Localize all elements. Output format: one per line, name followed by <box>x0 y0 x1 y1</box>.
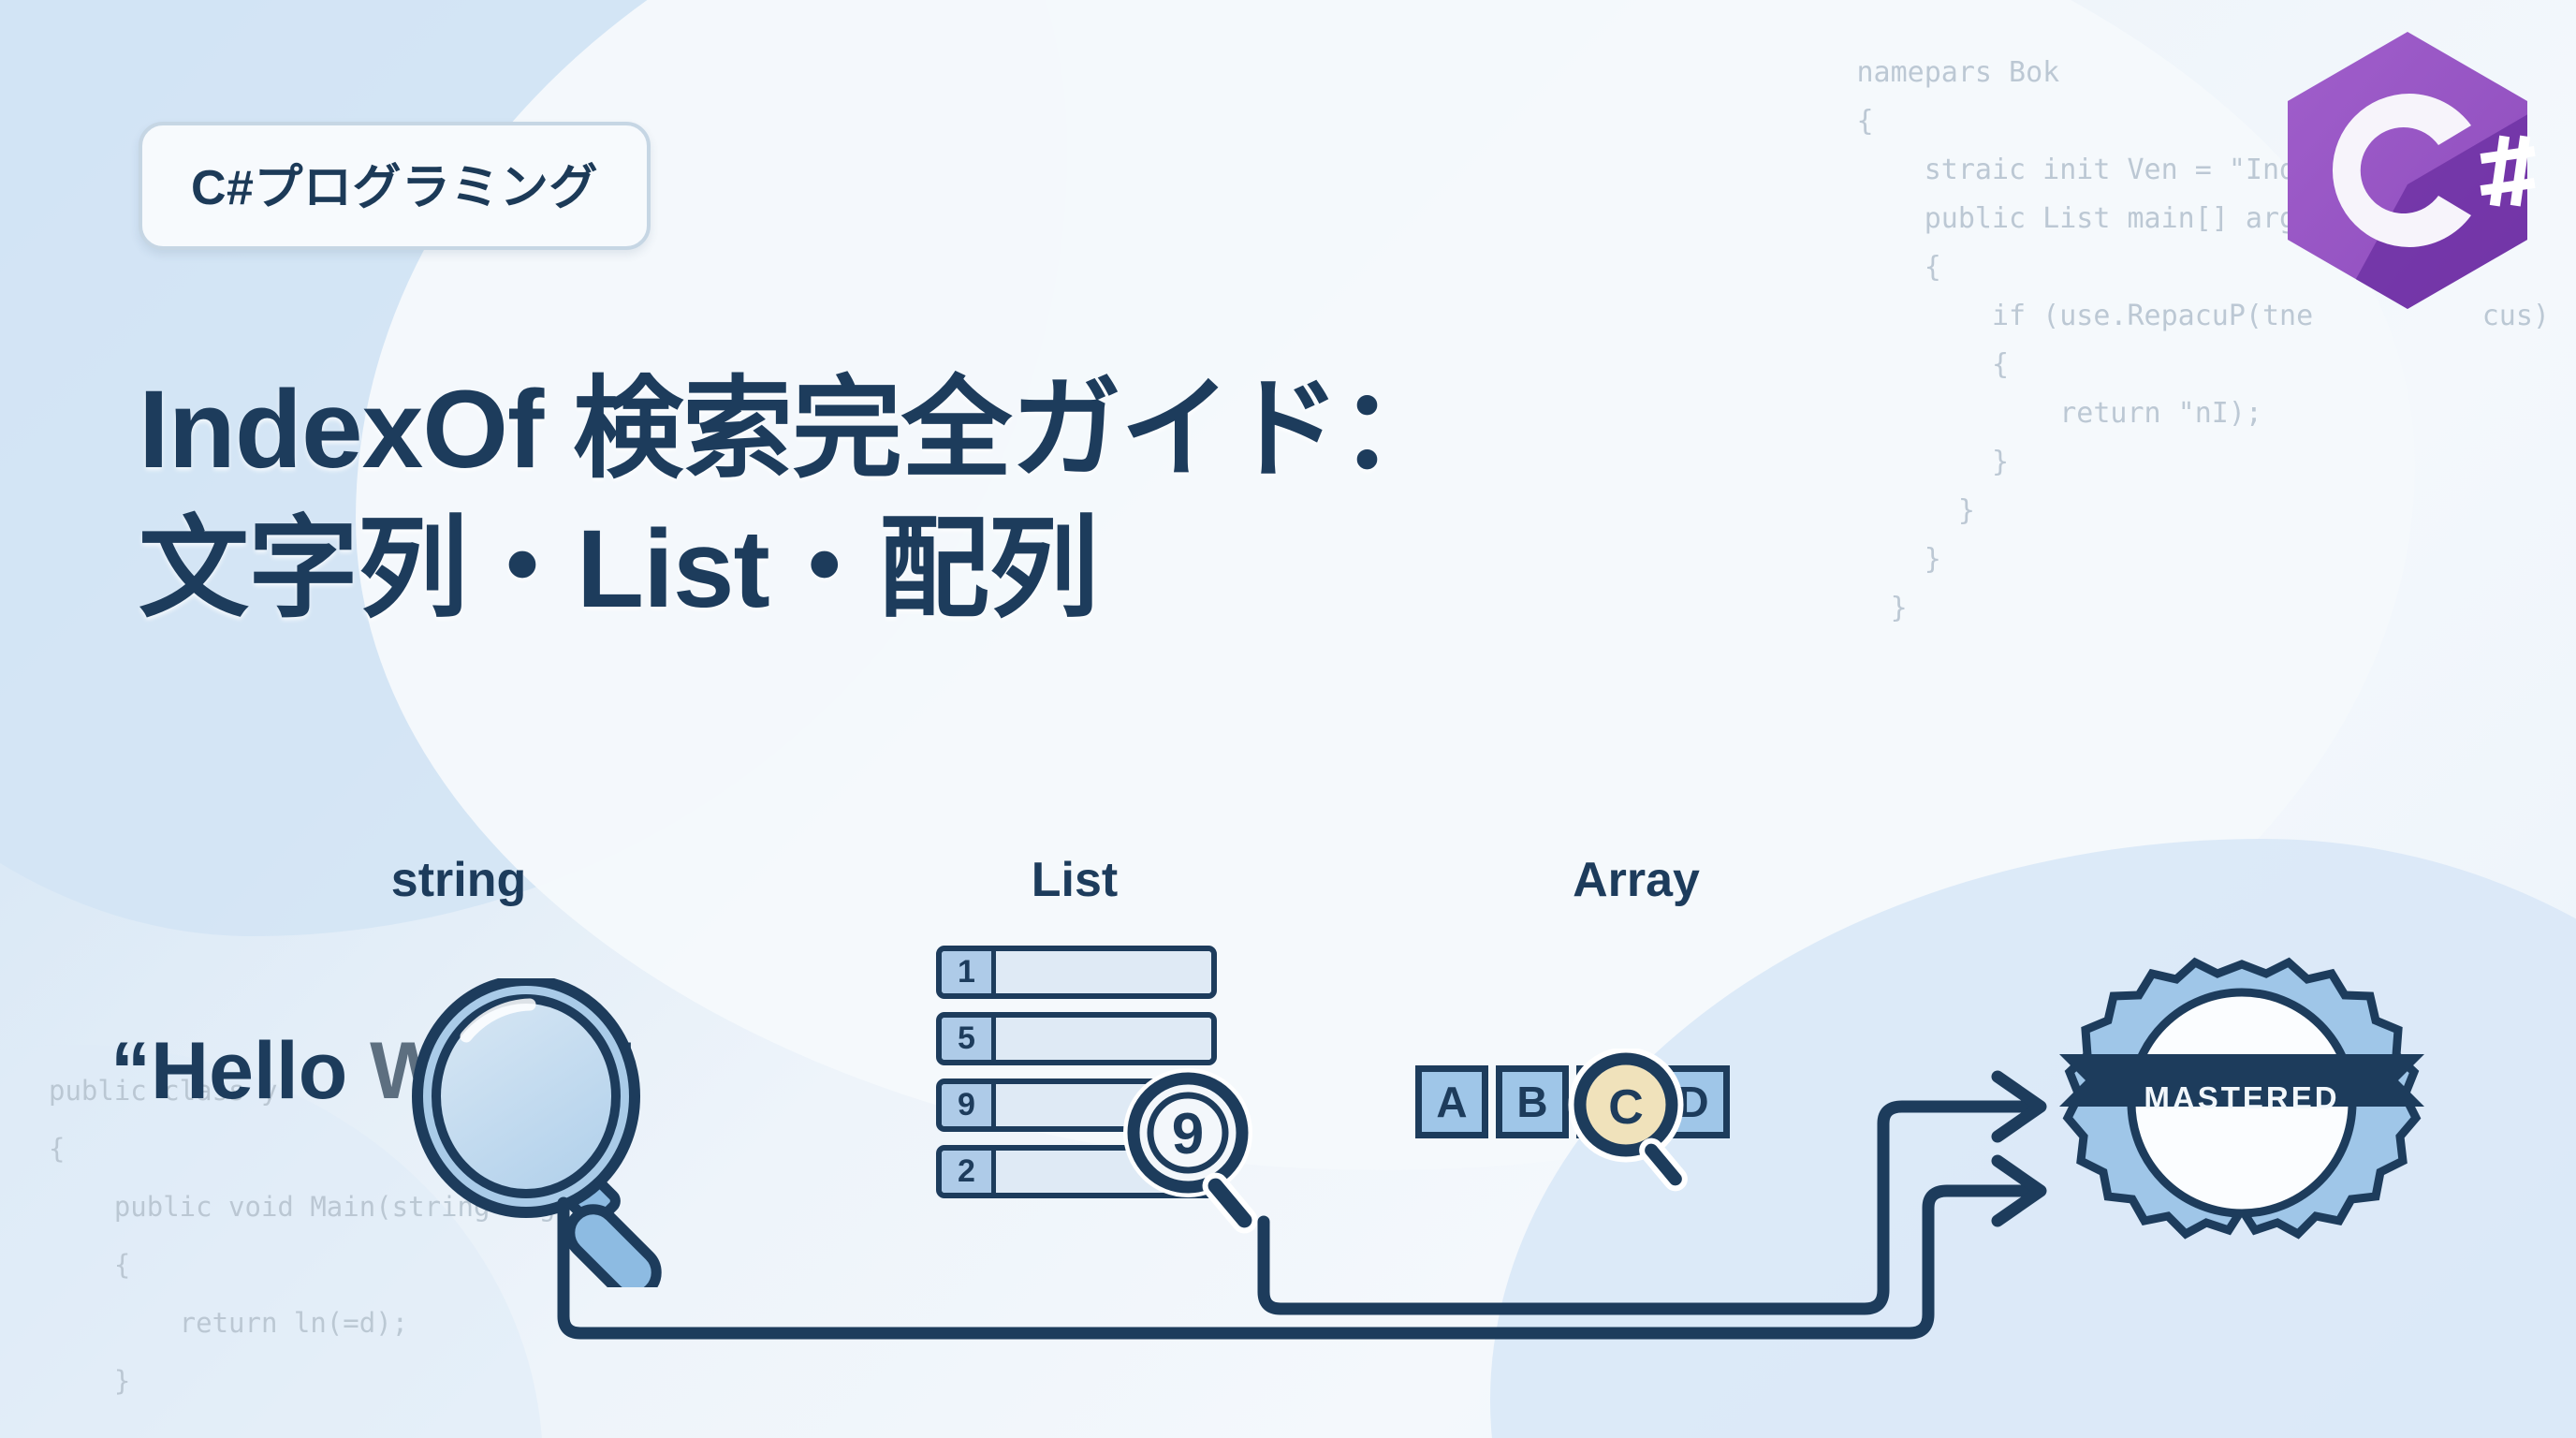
connector-list-to-badge <box>1264 1107 2037 1309</box>
flow-connectors <box>0 0 2576 1438</box>
banner-canvas: namepars Bok { straic init Ven = "Ind pu… <box>0 0 2576 1438</box>
